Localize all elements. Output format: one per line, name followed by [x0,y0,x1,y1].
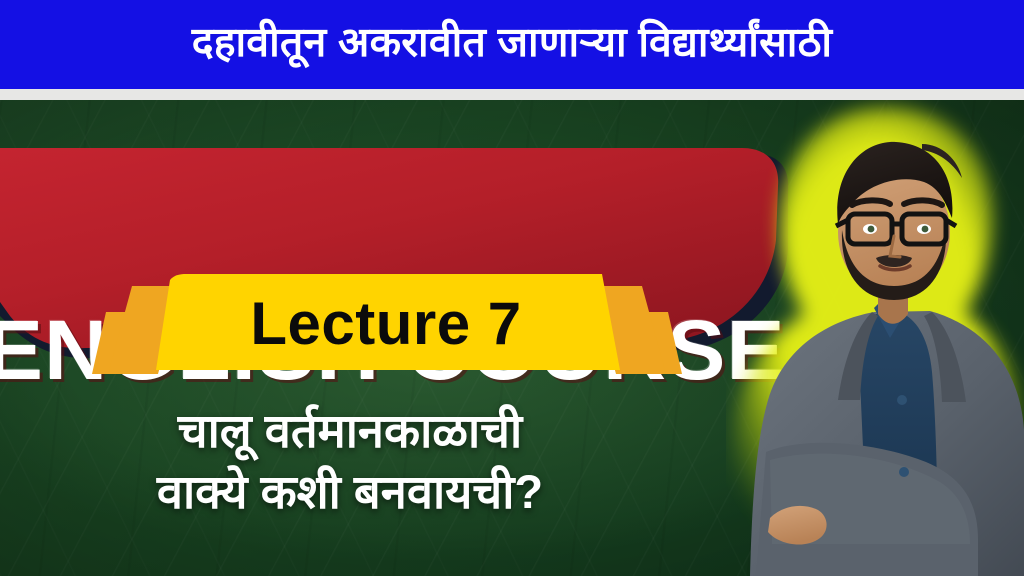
banner-divider-strip [0,89,1024,100]
top-banner: दहावीतून अकरावीत जाणाऱ्या विद्यार्थ्यांस… [0,0,1024,89]
youtube-thumbnail: ENGLISH COURSE Lecture 7 चालू वर्तमानकाळ… [0,0,1024,576]
instructor-figure [726,100,1024,576]
subtitle-line-1: चालू वर्तमानकाळाची [0,400,700,461]
subtitle-line-2: वाक्ये कशी बनवायची? [0,461,700,522]
lecture-label: Lecture 7 [86,278,686,370]
subtitle-block: चालू वर्तमानकाळाची वाक्ये कशी बनवायची? [0,400,700,522]
top-banner-text: दहावीतून अकरावीत जाणाऱ्या विद्यार्थ्यांस… [192,22,833,67]
instructor-photo [726,100,1024,576]
